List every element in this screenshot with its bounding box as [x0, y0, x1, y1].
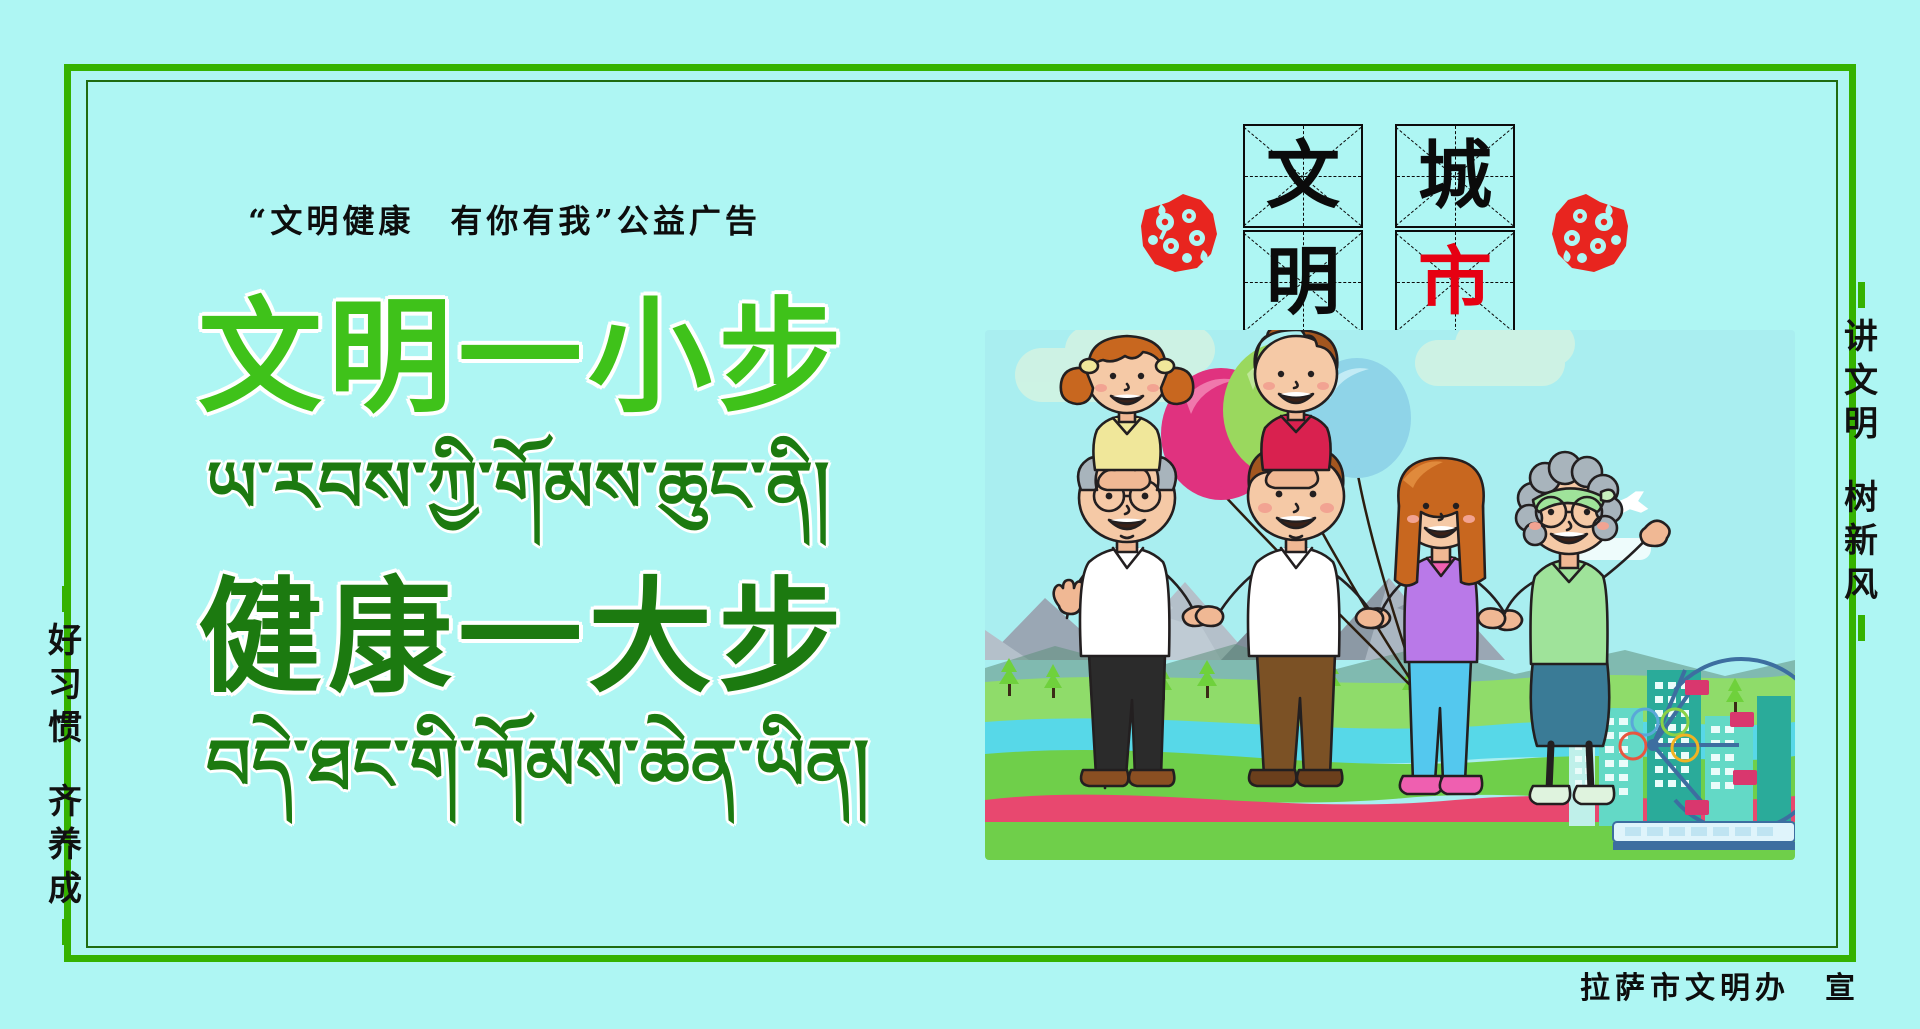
family-illustration	[985, 330, 1795, 860]
side-right-char-6: 风	[1838, 564, 1884, 608]
train-icon	[1613, 822, 1795, 850]
side-right-segment-1: 讲 文 明	[1838, 316, 1884, 447]
side-left-char-3: 惯	[42, 707, 88, 751]
seal-column-2: 城 市	[1395, 124, 1515, 334]
vertical-rule-bottom	[1858, 615, 1865, 641]
seal-char-ming: 明	[1245, 232, 1361, 332]
vertical-rule-top-left	[62, 586, 69, 612]
slogan-line1-chinese: 文明一小步	[198, 296, 848, 420]
side-right-char-5: 新	[1838, 520, 1884, 564]
side-right-char-2: 文	[1838, 360, 1884, 404]
issuer-signature: 拉萨市文明办 宣	[1580, 963, 1860, 1007]
side-right-char-4: 树	[1838, 477, 1884, 521]
slogan-line2-chinese: 健康一大步	[198, 576, 848, 700]
poster-canvas: “文明健康 有你有我”公益广告 文明一小步 ཡ་རབས་ཀྱི་གོམས་ཆུང…	[0, 0, 1920, 1029]
seal-cell-cheng: 城	[1395, 124, 1515, 228]
seal-char-wen: 文	[1245, 126, 1361, 226]
side-slogan-right: 讲 文 明 树 新 风	[1838, 316, 1884, 607]
side-right-segment-2: 树 新 风	[1838, 477, 1884, 608]
seal-cell-ming: 明	[1243, 230, 1363, 334]
seal-char-cheng: 城	[1397, 126, 1513, 226]
seal-column-1: 文 明	[1243, 124, 1363, 334]
papercut-ornament-left	[1139, 184, 1221, 280]
seal-cell-wen: 文	[1243, 124, 1363, 228]
civilized-city-seal: 文 明 城 市	[1243, 124, 1533, 334]
side-left-char-1: 好	[42, 620, 88, 664]
side-left-char-4: 齐	[42, 781, 88, 825]
vertical-rule-bottom-left	[62, 919, 69, 945]
campaign-tagline: “文明健康 有你有我”公益广告	[248, 196, 761, 242]
slogan-line1-tibetan: ཡ་རབས་ཀྱི་གོམས་ཆུང་ནི།	[206, 452, 830, 522]
papercut-ornament-right	[1548, 184, 1630, 280]
side-slogan-left: 好 习 惯 齐 养 成	[42, 620, 88, 911]
side-left-segment-1: 好 习 惯	[42, 620, 88, 751]
side-left-gap	[42, 751, 88, 781]
seal-cell-shi: 市	[1395, 230, 1515, 334]
side-right-char-1: 讲	[1838, 316, 1884, 360]
side-left-char-6: 成	[42, 868, 88, 912]
slogan-line2-tibetan: བདེ་ཐང་གི་གོམས་ཆེན་ཡིན།	[206, 730, 870, 800]
seal-char-shi: 市	[1397, 232, 1513, 332]
vertical-rule-top	[1858, 282, 1865, 308]
side-left-char-5: 养	[42, 824, 88, 868]
side-right-gap	[1838, 447, 1884, 477]
side-left-char-2: 习	[42, 664, 88, 708]
side-left-segment-2: 齐 养 成	[42, 781, 88, 912]
side-right-char-3: 明	[1838, 403, 1884, 447]
